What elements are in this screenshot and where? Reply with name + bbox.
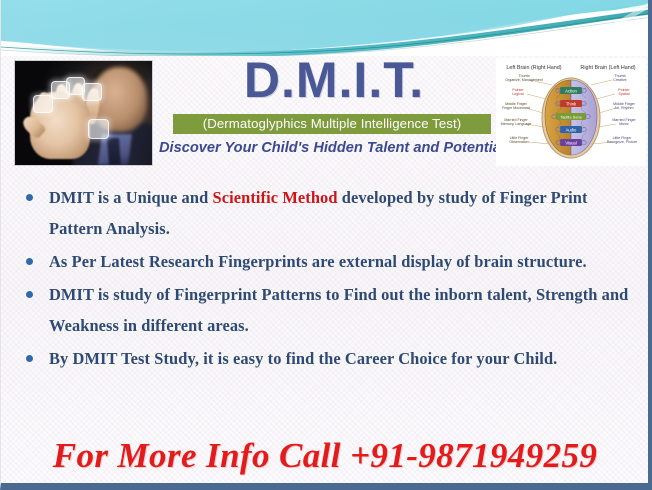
- svg-text:Memory, Language: Memory, Language: [501, 122, 532, 126]
- title-expansion-banner: (Dermatoglyphics Multiple Intelligence T…: [173, 114, 491, 134]
- svg-text:Recognize, Picture: Recognize, Picture: [607, 140, 637, 144]
- list-item: DMIT is study of Fingerprint Patterns to…: [15, 279, 633, 341]
- presentation-slide: D.M.I.T. (Dermatoglyphics Multiple Intel…: [0, 0, 652, 490]
- bullet-text-pre: As Per Latest Research Fingerprints are …: [49, 252, 587, 271]
- bullet-text-pre: DMIT is study of Fingerprint Patterns to…: [49, 285, 628, 335]
- svg-text:Art, Rhythm: Art, Rhythm: [615, 106, 634, 110]
- bullet-text-pre: DMIT is a Unique and: [49, 188, 212, 207]
- bullet-text-highlight: Scientific Method: [212, 188, 337, 207]
- list-item: As Per Latest Research Fingerprints are …: [15, 246, 633, 277]
- fingerprint-square-icon: [33, 95, 53, 113]
- svg-text:Finger Movement: Finger Movement: [502, 106, 530, 110]
- list-item: DMIT is a Unique and Scientific Method d…: [15, 182, 633, 244]
- bullet-dot-icon: [26, 291, 33, 298]
- title-row: D.M.I.T. (Dermatoglyphics Multiple Intel…: [1, 52, 649, 170]
- brain-hand-mapping-diagram: Left Brain (Right Hand) Right Brain (Lef…: [496, 58, 646, 166]
- svg-text:Spatial: Spatial: [619, 92, 630, 96]
- list-item: By DMIT Test Study, it is easy to find t…: [15, 343, 633, 374]
- page-title: D.M.I.T.: [169, 54, 499, 107]
- svg-text:Organize, Management: Organize, Management: [505, 78, 543, 82]
- call-to-action-phone: For More Info Call +91-9871949259: [1, 436, 649, 476]
- header-wave-banner: [1, 0, 652, 56]
- svg-text:Logical: Logical: [512, 92, 524, 96]
- bullet-dot-icon: [26, 355, 33, 362]
- fingerprint-scan-photo: [14, 60, 153, 166]
- svg-text:Visual: Visual: [565, 140, 576, 145]
- bullet-dot-icon: [26, 194, 33, 201]
- bullet-text-pre: By DMIT Test Study, it is easy to find t…: [49, 349, 557, 368]
- bullet-dot-icon: [26, 258, 33, 265]
- svg-text:Observation: Observation: [509, 140, 528, 144]
- svg-text:Audio: Audio: [566, 127, 577, 132]
- svg-text:Action: Action: [565, 88, 577, 93]
- tagline: Discover Your Child's Hidden Talent and …: [151, 140, 513, 156]
- svg-text:Tactile Sens: Tactile Sens: [560, 114, 582, 119]
- svg-text:Left Brain (Right Hand): Left Brain (Right Hand): [506, 65, 561, 71]
- fingerprint-square-icon: [82, 83, 102, 102]
- bullet-list: DMIT is a Unique and Scientific Method d…: [15, 182, 633, 376]
- fingerprint-square-icon: [88, 119, 109, 139]
- svg-text:Creative: Creative: [613, 78, 626, 82]
- svg-text:Music: Music: [619, 122, 629, 126]
- svg-text:Right Brain (Left Hand): Right Brain (Left Hand): [580, 65, 635, 71]
- svg-text:Think: Think: [566, 101, 577, 106]
